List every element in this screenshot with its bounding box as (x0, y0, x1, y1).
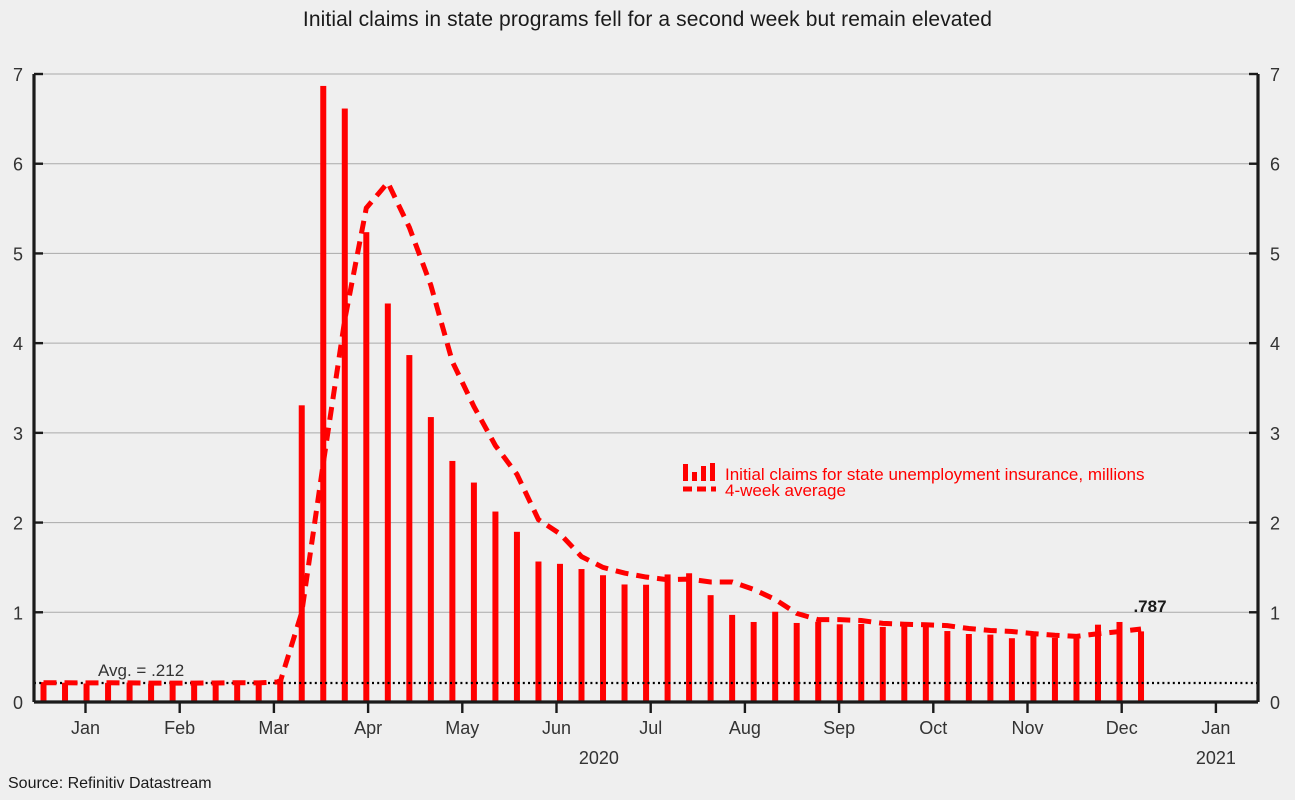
bar (751, 622, 757, 702)
bar (449, 461, 455, 702)
y-tick-label-right: 5 (1270, 244, 1280, 264)
bar (1073, 638, 1079, 702)
average-annotation-label: Avg. = .212 (98, 661, 184, 680)
y-tick-label-right: 0 (1270, 693, 1280, 713)
bar (406, 355, 412, 702)
x-tick-label-month: Aug (729, 718, 761, 738)
bar (815, 622, 821, 702)
chart-legend: Initial claims for state unemployment in… (683, 463, 1145, 500)
bar (62, 683, 68, 702)
bar (966, 634, 972, 702)
bar (84, 684, 90, 702)
bar (385, 303, 391, 702)
bar (535, 562, 541, 702)
y-tick-label-left: 4 (13, 334, 23, 354)
bar (729, 615, 735, 702)
bar (428, 417, 434, 702)
bar (363, 232, 369, 702)
y-tick-label-right: 4 (1270, 334, 1280, 354)
bar (127, 683, 133, 702)
y-axis-right-labels: 01234567 (1270, 65, 1280, 713)
y-tick-label-right: 7 (1270, 65, 1280, 85)
y-tick-label-left: 7 (13, 65, 23, 85)
legend-bars-icon (683, 463, 715, 481)
bar (191, 683, 197, 702)
bar (256, 683, 262, 702)
bar (987, 635, 993, 702)
x-tick-label-month: Sep (823, 718, 855, 738)
bar (320, 86, 326, 702)
bar (772, 612, 778, 702)
y-tick-label-left: 0 (13, 693, 23, 713)
x-axis-year-label: 2020 (579, 748, 619, 768)
bar (901, 626, 907, 702)
bars-group (41, 86, 1145, 702)
bar (643, 585, 649, 702)
x-axis-labels: JanFebMarAprMayJunJulAugSepOctNovDecJan2… (71, 718, 1236, 768)
bar (514, 532, 520, 702)
y-tick-label-left: 3 (13, 424, 23, 444)
bar (880, 627, 886, 702)
bar (1009, 638, 1015, 702)
bar (1052, 638, 1058, 702)
bar (299, 405, 305, 702)
bar (944, 631, 950, 702)
y-tick-label-right: 3 (1270, 424, 1280, 444)
last-value-annotation-label: .787 (1133, 597, 1166, 616)
bar (858, 624, 864, 702)
x-tick-label-month: Oct (919, 718, 947, 738)
bar (170, 683, 176, 702)
bar (492, 512, 498, 702)
claims-chart-plot: 01234567 01234567 JanFebMarAprMayJunJulA… (0, 0, 1295, 800)
x-tick-label-month: Apr (354, 718, 382, 738)
x-axis-year-label: 2021 (1196, 748, 1236, 768)
y-axis-left-labels: 01234567 (13, 65, 23, 713)
x-tick-label-month: Dec (1106, 718, 1138, 738)
bar (148, 684, 154, 702)
bar (622, 584, 628, 702)
y-tick-label-right: 2 (1270, 514, 1280, 534)
chart-container: Initial claims in state programs fell fo… (0, 0, 1295, 800)
y-tick-label-right: 1 (1270, 603, 1280, 623)
x-tick-label-month: Mar (258, 718, 289, 738)
x-tick-label-month: Jul (639, 718, 662, 738)
bar (1030, 635, 1036, 702)
bar (1138, 631, 1144, 702)
x-tick-label-month: May (445, 718, 479, 738)
bar (342, 109, 348, 702)
y-tick-label-right: 6 (1270, 155, 1280, 175)
bar (837, 624, 843, 702)
bar (794, 623, 800, 702)
bar (234, 682, 240, 702)
legend-label-average: 4-week average (725, 481, 846, 500)
x-tick-label-month: Jun (542, 718, 571, 738)
y-tick-label-left: 1 (13, 603, 23, 623)
y-tick-label-left: 6 (13, 155, 23, 175)
y-tick-label-left: 2 (13, 514, 23, 534)
bar (923, 626, 929, 702)
bar (105, 683, 111, 702)
bar (557, 564, 563, 702)
x-tick-label-month: Nov (1011, 718, 1043, 738)
source-note: Source: Refinitiv Datastream (8, 775, 212, 793)
gridlines-group (34, 74, 1258, 612)
x-tick-label-month: Feb (164, 718, 195, 738)
x-tick-label-month: Jan (71, 718, 100, 738)
bar (708, 595, 714, 702)
x-tick-label-month: Jan (1201, 718, 1230, 738)
y-tick-label-left: 5 (13, 244, 23, 264)
bar (471, 483, 477, 702)
